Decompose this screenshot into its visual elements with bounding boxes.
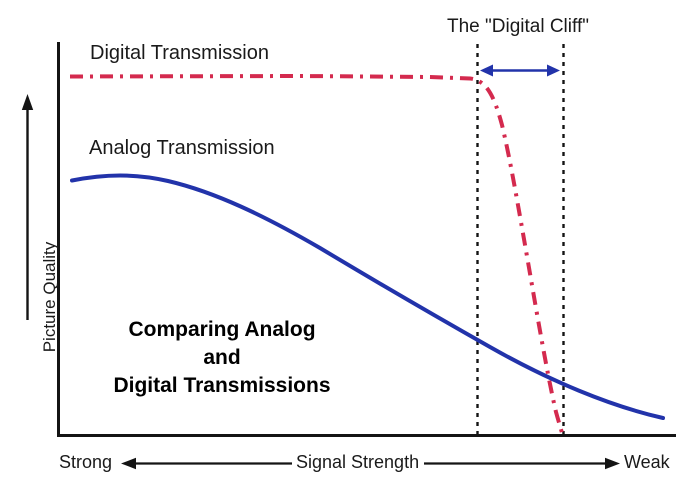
y-axis-label: Picture Quality bbox=[40, 227, 60, 367]
annotation-digital-cliff: The "Digital Cliff" bbox=[447, 16, 589, 38]
x-axis-label-weak: Weak bbox=[624, 452, 670, 473]
y-axis-direction-arrow bbox=[22, 94, 33, 320]
x-axis-label-strong: Strong bbox=[59, 452, 112, 473]
x-axis-direction-arrow-left bbox=[121, 458, 292, 469]
chart-figure: Digital Transmission Analog Transmission… bbox=[0, 0, 690, 494]
chart-title: Comparing Analog and Digital Transmissio… bbox=[72, 316, 372, 400]
cliff-span-arrow bbox=[480, 65, 560, 77]
annotation-digital-transmission: Digital Transmission bbox=[90, 42, 269, 65]
chart-plot-area bbox=[0, 0, 690, 494]
chart-title-line-1: Comparing Analog bbox=[72, 316, 372, 344]
x-axis-label: Signal Strength bbox=[296, 452, 419, 473]
x-axis-direction-arrow-right bbox=[424, 458, 620, 469]
chart-title-line-2: and bbox=[72, 344, 372, 372]
chart-title-line-3: Digital Transmissions bbox=[72, 372, 372, 400]
annotation-analog-transmission: Analog Transmission bbox=[89, 137, 275, 160]
